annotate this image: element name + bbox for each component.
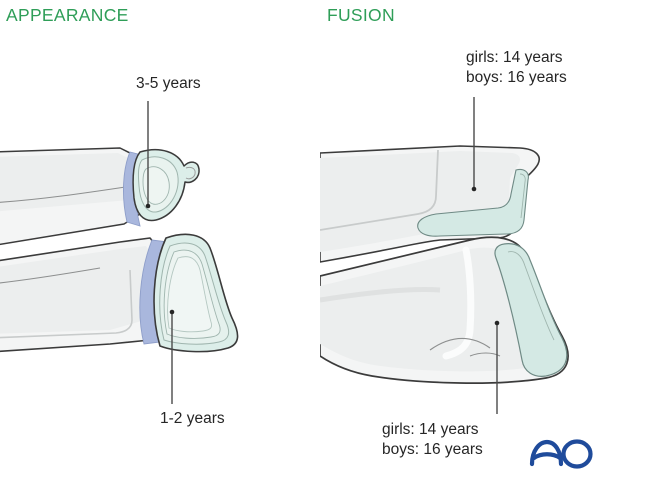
callout-radius-appearance-age: 1-2 years xyxy=(160,409,225,428)
panel-title-fusion: FUSION xyxy=(327,5,395,26)
ulna-epiphysis xyxy=(133,150,199,221)
callout-ulna-fusion-boys: boys: 16 years xyxy=(466,68,567,88)
leader-dot-3-5-years xyxy=(146,204,151,209)
left-panel-illustration xyxy=(0,148,238,352)
radius-fused xyxy=(320,237,568,383)
ulna-shaft xyxy=(0,148,140,246)
ao-logo-o-mark xyxy=(564,442,591,467)
right-panel-illustration xyxy=(320,146,568,383)
callout-ulna-fusion-age: girls: 14 years boys: 16 years xyxy=(466,48,567,88)
callout-ulna-fusion-girls: girls: 14 years xyxy=(466,48,567,68)
leader-dot-1-2-years xyxy=(170,310,175,315)
callout-ulna-appearance-age: 3-5 years xyxy=(136,74,201,93)
ao-logo xyxy=(528,437,596,471)
panel-title-appearance: APPEARANCE xyxy=(6,5,129,26)
ao-logo-a-crossbar xyxy=(534,454,560,458)
leader-dot-radius-fusion xyxy=(495,321,500,326)
callout-radius-fusion-girls: girls: 14 years xyxy=(382,420,483,440)
leader-dot-ulna-fusion xyxy=(472,187,477,192)
radius-epiphysis xyxy=(154,234,238,351)
callout-radius-fusion-boys: boys: 16 years xyxy=(382,440,483,460)
callout-radius-fusion-age: girls: 14 years boys: 16 years xyxy=(382,420,483,460)
